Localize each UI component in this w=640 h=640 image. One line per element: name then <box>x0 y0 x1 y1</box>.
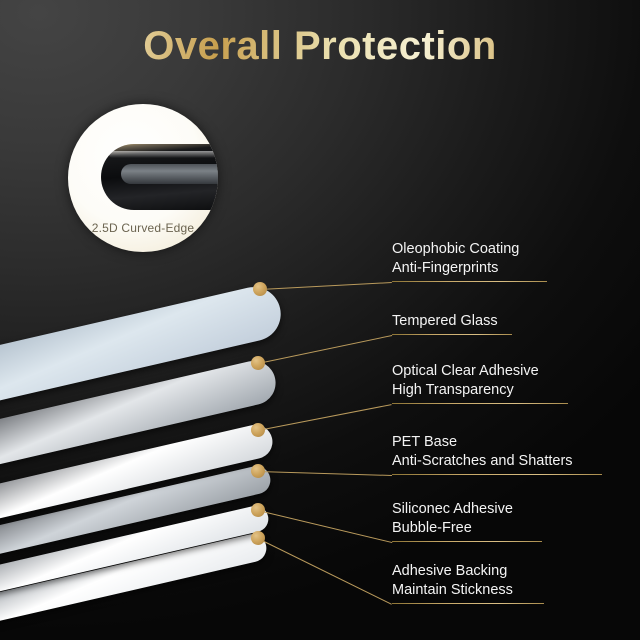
callout-line: Anti-Scratches and Shatters <box>392 452 602 471</box>
callout-label-pet-base: PET BaseAnti-Scratches and Shatters <box>392 433 602 475</box>
callout-line: Oleophobic Coating <box>392 240 547 259</box>
callout-line: Adhesive Backing <box>392 562 544 581</box>
callout-line: Optical Clear Adhesive <box>392 362 568 381</box>
callout-line: High Transparency <box>392 381 568 400</box>
callout-line: Siliconec Adhesive <box>392 500 542 519</box>
callout-underline <box>392 334 512 335</box>
callout-line: Tempered Glass <box>392 312 512 331</box>
callout-label-oleophobic-coating: Oleophobic CoatingAnti-Fingerprints <box>392 240 547 282</box>
callout-dot-optical-clear-adhesive[interactable] <box>251 423 265 437</box>
callout-dot-tempered-glass[interactable] <box>251 356 265 370</box>
callout-underline <box>392 281 547 282</box>
callout-dot-siliconec-adhesive[interactable] <box>251 503 265 517</box>
layer-stack <box>0 0 640 640</box>
callout-underline <box>392 603 544 604</box>
callout-line: Bubble-Free <box>392 519 542 538</box>
callout-underline <box>392 541 542 542</box>
callout-label-optical-clear-adhesive: Optical Clear AdhesiveHigh Transparency <box>392 362 568 404</box>
callout-dot-oleophobic-coating[interactable] <box>253 282 267 296</box>
callout-dot-pet-base[interactable] <box>251 464 265 478</box>
callout-underline <box>392 403 568 404</box>
callout-dot-adhesive-backing[interactable] <box>251 531 265 545</box>
callout-label-tempered-glass: Tempered Glass <box>392 312 512 335</box>
callout-line: Maintain Stickness <box>392 581 544 600</box>
callout-label-siliconec-adhesive: Siliconec AdhesiveBubble-Free <box>392 500 542 542</box>
infographic-canvas: Overall Protection 2.5D Curved-Edge Oleo… <box>0 0 640 640</box>
callout-line: Anti-Fingerprints <box>392 259 547 278</box>
callout-line: PET Base <box>392 433 602 452</box>
callout-label-adhesive-backing: Adhesive BackingMaintain Stickness <box>392 562 544 604</box>
callout-underline <box>392 474 602 475</box>
